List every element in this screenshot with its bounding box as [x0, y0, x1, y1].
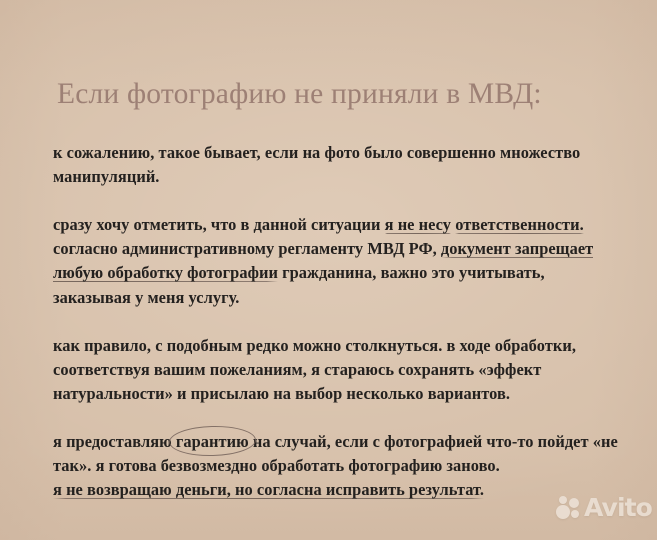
listing-image-card: Если фотографию не приняли в МВД: к сожа… — [0, 0, 657, 540]
paragraph-1-text: к сожалению, такое бывает, если на фото … — [53, 143, 580, 186]
p2-underlined-phrase-2: ответственности. — [455, 215, 584, 235]
p2-segment-plain-1: сразу хочу отметить, что в данной ситуац… — [53, 215, 385, 234]
p4-circled-word: гарантию — [176, 430, 249, 454]
p4-segment-plain-1: я предоставляю — [53, 432, 176, 451]
paragraph-4: я предоставляю гарантию на случай, если … — [53, 430, 619, 478]
avito-dots-icon — [556, 496, 579, 520]
avito-wordmark: Avito — [584, 496, 652, 520]
p2-underlined-phrase-1: я не несу — [385, 215, 451, 235]
page-title: Если фотографию не приняли в МВД: — [57, 74, 617, 114]
paragraph-3-text: как правило, с подобным редко можно стол… — [53, 336, 576, 403]
avito-watermark: Avito — [556, 496, 652, 520]
p5-underlined-phrase: я не возвращаю деньги, но согласна испра… — [53, 480, 484, 500]
paragraph-5: я не возвращаю деньги, но согласна испра… — [53, 478, 619, 502]
paragraph-2: сразу хочу отметить, что в данной ситуац… — [53, 213, 619, 309]
body-text-block: к сожалению, такое бывает, если на фото … — [53, 141, 619, 502]
paragraph-1: к сожалению, такое бывает, если на фото … — [53, 141, 619, 189]
paragraph-3: как правило, с подобным редко можно стол… — [53, 334, 619, 406]
p2-segment-plain-2: согласно административному регламенту МВ… — [53, 239, 441, 258]
